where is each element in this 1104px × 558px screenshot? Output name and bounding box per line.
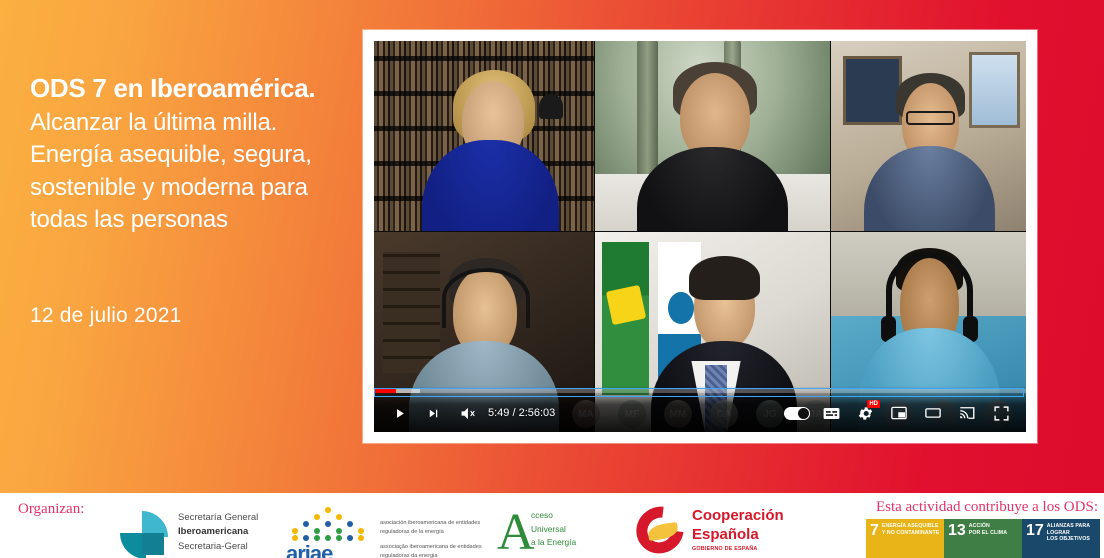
ariae-dot-icon (336, 535, 342, 541)
acceso-wordmark: cceso Universal a la Energía (531, 509, 576, 550)
mute-button[interactable] (450, 396, 484, 430)
ariae-dot-icon (336, 514, 342, 520)
sdg-tiles: 7ENERGÍA ASEQUIBLEY NO CONTAMINANTE13ACC… (866, 519, 1100, 558)
ariae-dot-icon (336, 528, 342, 534)
hero-text-block: ODS 7 en Iberoamérica. Alcanzar la últim… (30, 72, 360, 236)
ariae-dot-icon (292, 535, 298, 541)
acceso-line-3: a la Energía (531, 536, 576, 550)
video-player-frame: MAMFMMCAJGJALT (363, 30, 1037, 443)
autoplay-toggle[interactable] (780, 396, 814, 430)
fullscreen-button[interactable] (984, 396, 1018, 430)
hero-subtitle-line-3: sostenible y moderna para (30, 172, 360, 204)
cooperacion-line-3: GOBIERNO DE ESPAÑA (692, 546, 784, 553)
player-control-bar[interactable]: 5:49 / 2:56:03 (374, 386, 1026, 432)
organizers-label: Organizan: (18, 501, 84, 518)
logo-cooperacion-espanola: Cooperación Española GOBIERNO DE ESPAÑA (636, 507, 784, 553)
sdg-tile-13: 13ACCIÓNPOR EL CLIMA (944, 519, 1022, 558)
toggle-on-icon (784, 407, 810, 420)
footer-bar: Organizan: Secretaría General Iberoameri… (0, 493, 1104, 558)
hero-subtitle-line-1: Alcanzar la última milla. (30, 107, 360, 139)
logo-ariae: ariae asociación iberoamericana de entid… (286, 505, 492, 558)
sdg-label: ENERGÍA ASEQUIBLEY NO CONTAMINANTE (882, 523, 939, 536)
cast-button[interactable] (950, 396, 984, 430)
ariae-dot-icon (358, 528, 364, 534)
play-button[interactable] (382, 396, 416, 430)
participant-tile-top-left[interactable] (374, 41, 594, 231)
ariae-pt-line-1: associação iberoamericana de entidades (380, 544, 482, 550)
ariae-dots-icon: ariae (286, 505, 372, 545)
ariae-dot-icon (358, 535, 364, 541)
segib-line-2: Iberoamericana (178, 526, 248, 537)
segib-line-1: Secretaría General (178, 511, 258, 525)
sdg-tile-17: 17ALIANZAS PARALOGRARLOS OBJETIVOS (1022, 519, 1100, 558)
participant-video-grid (374, 41, 1026, 432)
ariae-dot-icon (325, 507, 331, 513)
ariae-dot-icon (314, 514, 320, 520)
subtitles-button[interactable] (814, 396, 848, 430)
bookshelf-decor (383, 252, 440, 373)
participant-hair (689, 256, 760, 300)
cooperacion-wordmark: Cooperación Española GOBIERNO DE ESPAÑA (692, 507, 784, 552)
acceso-line-1: cceso (531, 509, 576, 523)
controls-row: 5:49 / 2:56:03 (374, 394, 1026, 432)
hd-badge: HD (867, 400, 880, 408)
ariae-dot-icon (292, 528, 298, 534)
participant-tile-top-center[interactable] (595, 41, 830, 231)
ariae-dot-icon (314, 535, 320, 541)
time-display: 5:49 / 2:56:03 (484, 407, 563, 419)
ariae-dot-icon (347, 535, 353, 541)
ariae-wordmark: ariae (286, 541, 332, 558)
segib-wordmark: Secretaría General Iberoamericana Secret… (178, 511, 258, 554)
glasses-decor (906, 111, 955, 124)
ariae-dot-icon (325, 521, 331, 527)
acceso-line-2: Universal (531, 523, 576, 537)
settings-button[interactable]: HD (848, 396, 882, 430)
participant-torso (637, 147, 787, 231)
miniplayer-button[interactable] (882, 396, 916, 430)
ariae-tagline: asociación iberoamericana de entidades r… (380, 505, 492, 558)
window-decor (969, 52, 1020, 128)
participant-tile-top-right[interactable] (831, 41, 1026, 231)
hero-subtitle-line-2: Energía asequible, segura, (30, 139, 360, 171)
headset-icon (886, 252, 973, 328)
brazil-flag-decor (602, 242, 649, 395)
contributes-label: Esta actividad contribuye a los ODS: (876, 499, 1098, 516)
desk-lamp-decor (539, 94, 563, 119)
aneel-logo-icon (668, 292, 694, 324)
sdg-label: ACCIÓNPOR EL CLIMA (969, 523, 1007, 536)
cooperacion-line-2: Española (692, 526, 784, 544)
sdg-number: 17 (1026, 523, 1044, 539)
cooperacion-line-1: Cooperación (692, 507, 784, 525)
cooperacion-mark-icon (636, 507, 684, 553)
next-button[interactable] (416, 396, 450, 430)
segib-quadrant-icon (142, 533, 164, 555)
ariae-dot-icon (303, 535, 309, 541)
acceso-letter-a-icon: A (497, 507, 535, 558)
headset-icon (442, 268, 530, 328)
sdg-number: 13 (948, 523, 966, 539)
segib-line-3: Secretaria-Geral (178, 540, 258, 554)
video-player[interactable]: MAMFMMCAJGJALT (374, 41, 1026, 432)
ariae-pt-line-2: reguladoras da energia (380, 553, 438, 558)
page-title: ODS 7 en Iberoamérica. (30, 72, 360, 105)
participant-torso (864, 146, 994, 232)
sdg-label: ALIANZAS PARALOGRARLOS OBJETIVOS (1047, 523, 1090, 543)
logo-segib: Secretaría General Iberoamericana Secret… (120, 511, 258, 555)
hero-subtitle-line-4: todas las personas (30, 204, 360, 236)
logo-acceso-universal: A cceso Universal a la Energía (495, 503, 591, 558)
ariae-es-line-1: asociación iberoamericana de entidades (380, 520, 480, 526)
ariae-dot-icon (325, 535, 331, 541)
ariae-es-line-2: reguladoras de la energía (380, 529, 444, 535)
theater-button[interactable] (916, 396, 950, 430)
segib-mark-icon (120, 511, 172, 555)
ariae-dot-icon (347, 521, 353, 527)
ariae-dot-icon (314, 528, 320, 534)
wall-picture-decor (843, 56, 902, 124)
tree-decor (637, 41, 658, 178)
ariae-dot-icon (303, 521, 309, 527)
sdg-tile-7: 7ENERGÍA ASEQUIBLEY NO CONTAMINANTE (866, 519, 944, 558)
sdg-number: 7 (870, 523, 879, 539)
event-date: 12 de julio 2021 (30, 304, 182, 328)
